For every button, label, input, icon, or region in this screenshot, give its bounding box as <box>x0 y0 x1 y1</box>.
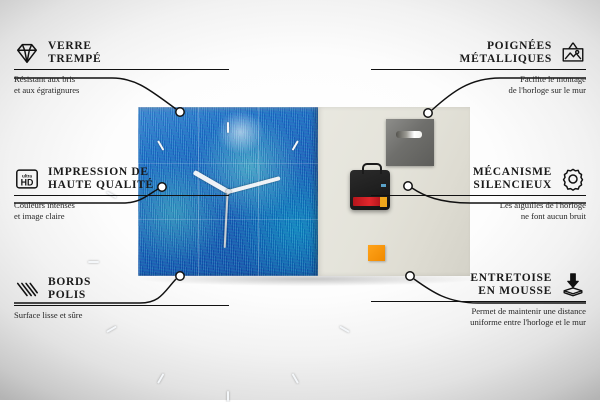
feature-bords-polis[interactable]: BORDS POLIS Surface lisse et sûre <box>14 276 229 321</box>
feature-title-line: POIGNÉES <box>460 40 552 53</box>
clock-tick <box>88 261 158 263</box>
feature-header: ultra HD IMPRESSION DE HAUTE QUALITÉ <box>14 166 229 192</box>
feature-divider <box>371 69 586 70</box>
feature-poignees-metalliques[interactable]: POIGNÉES MÉTALLIQUES Facilite le montage… <box>371 40 586 95</box>
ultra-hd-icon-bottom: HD <box>21 178 34 188</box>
feature-header: POIGNÉES MÉTALLIQUES <box>371 40 586 66</box>
clock-minute-hand <box>227 176 280 194</box>
feature-subtitle: Les aiguilles de l'horloge ne font aucun… <box>371 200 586 221</box>
feature-header: VERRE TREMPÉ <box>14 40 229 66</box>
feature-verre-trempe[interactable]: VERRE TREMPÉ Résistant aux bris et aux é… <box>14 40 229 95</box>
feature-header: ENTRETOISE EN MOUSSE <box>371 272 586 298</box>
feature-subtitle-line: de l'horloge sur le mur <box>371 85 586 96</box>
feature-divider <box>14 69 229 70</box>
feature-subtitle-line: Permet de maintenir une distance <box>371 306 586 317</box>
clock-tick <box>288 296 350 333</box>
foam-spacer-part <box>368 245 385 261</box>
feature-subtitle-line: et aux égratignures <box>14 85 229 96</box>
feature-divider <box>14 195 229 196</box>
feature-title: IMPRESSION DE HAUTE QUALITÉ <box>48 166 154 192</box>
feature-subtitle: Couleurs intenses et image claire <box>14 200 229 221</box>
feature-subtitle-line: Facilite le montage <box>371 74 586 85</box>
clock-tick <box>227 332 229 402</box>
feature-title-line: EN MOUSSE <box>470 285 552 298</box>
feature-divider <box>14 305 229 306</box>
feature-title-line: TREMPÉ <box>48 53 101 66</box>
feature-title-line: BORDS <box>48 276 91 289</box>
feature-title-line: VERRE <box>48 40 101 53</box>
feature-mecanisme-silencieux[interactable]: MÉCANISME SILENCIEUX Les aiguilles de l'… <box>371 166 586 221</box>
feature-title: POIGNÉES MÉTALLIQUES <box>460 40 552 66</box>
clock-tick <box>262 140 299 202</box>
hanger-keyhole-slot <box>396 131 422 138</box>
feature-title: MÉCANISME SILENCIEUX <box>473 166 552 192</box>
feature-title-line: SILENCIEUX <box>473 179 552 192</box>
feature-subtitle: Facilite le montage de l'horloge sur le … <box>371 74 586 95</box>
feature-subtitle-line: ne font aucun bruit <box>371 211 586 222</box>
feature-divider <box>371 301 586 302</box>
gear-icon <box>560 166 586 192</box>
feature-header: MÉCANISME SILENCIEUX <box>371 166 586 192</box>
feature-subtitle-line: et image claire <box>14 211 229 222</box>
feature-subtitle: Surface lisse et sûre <box>14 310 229 321</box>
diamond-icon <box>14 40 40 66</box>
framed-picture-icon <box>560 40 586 66</box>
feature-subtitle-line: uniforme entre l'horloge et le mur <box>371 317 586 328</box>
feature-divider <box>371 195 586 196</box>
feature-title-line: MÉTALLIQUES <box>460 53 552 66</box>
feature-subtitle-line: Les aiguilles de l'horloge <box>371 200 586 211</box>
feature-subtitle-line: Couleurs intenses <box>14 200 229 211</box>
polished-edges-icon <box>14 276 40 302</box>
feature-title-line: IMPRESSION DE <box>48 166 154 179</box>
feature-title: VERRE TREMPÉ <box>48 40 101 66</box>
ultra-hd-icon: ultra HD <box>14 166 40 192</box>
feature-title: ENTRETOISE EN MOUSSE <box>470 272 552 298</box>
feature-header: BORDS POLIS <box>14 276 229 302</box>
feature-subtitle-line: Résistant aux bris <box>14 74 229 85</box>
feature-title-line: MÉCANISME <box>473 166 552 179</box>
metal-hanger-plate-icon <box>386 119 434 166</box>
clock-tick <box>157 322 194 384</box>
feature-subtitle-line: Surface lisse et sûre <box>14 310 229 321</box>
feature-title-line: HAUTE QUALITÉ <box>48 179 154 192</box>
panel-glare <box>217 110 264 154</box>
feature-title: BORDS POLIS <box>48 276 91 302</box>
clock-tick <box>262 322 299 384</box>
feature-impression-haute-qualite[interactable]: ultra HD IMPRESSION DE HAUTE QUALITÉ Cou… <box>14 166 229 221</box>
feature-title-line: ENTRETOISE <box>470 272 552 285</box>
infographic-canvas: VERRE TREMPÉ Résistant aux bris et aux é… <box>0 0 600 400</box>
feature-entretoise-en-mousse[interactable]: ENTRETOISE EN MOUSSE Permet de maintenir… <box>371 272 586 327</box>
feature-title-line: POLIS <box>48 289 91 302</box>
feature-subtitle: Permet de maintenir une distance uniform… <box>371 306 586 327</box>
foam-spacer-icon <box>560 272 586 298</box>
feature-subtitle: Résistant aux bris et aux égratignures <box>14 74 229 95</box>
